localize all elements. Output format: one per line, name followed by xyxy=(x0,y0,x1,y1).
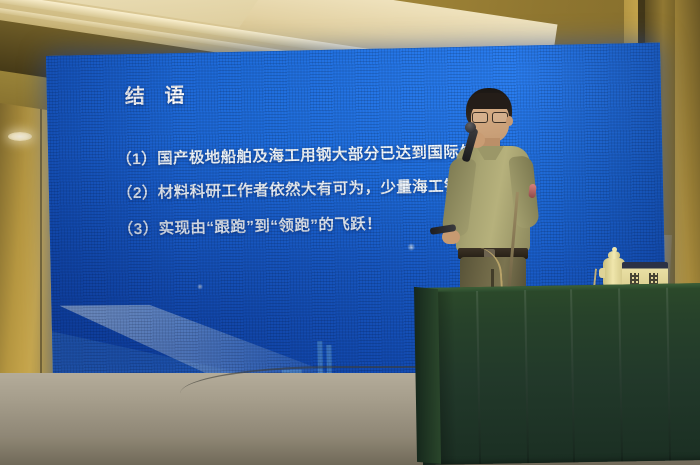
sparkle-2 xyxy=(407,243,415,251)
sparkle-1 xyxy=(197,284,203,290)
table-left-corner xyxy=(414,287,441,464)
speaker-ear xyxy=(506,116,513,126)
speaker-hair-front xyxy=(468,93,510,109)
slide-title: 结 语 xyxy=(125,79,192,109)
slide-bullet-3: （3）实现由“跟跑”到“领跑”的飞跃！ xyxy=(118,212,383,240)
glasses-icon xyxy=(472,112,508,121)
table-shadow-fold xyxy=(438,291,457,464)
table-fold xyxy=(570,289,575,462)
table-fold xyxy=(476,291,481,464)
presentation-photo-scene: 结 语 （1）国产极地船舶及海工用钢大部分已达到国际先进水 （2）材料科研工作者… xyxy=(0,0,700,465)
teapot-spout xyxy=(599,268,605,278)
draped-table xyxy=(420,283,700,465)
table-fold xyxy=(666,288,671,461)
teapot-knob xyxy=(612,247,617,252)
table-fold xyxy=(524,290,529,463)
downlight-icon-3 xyxy=(8,132,32,141)
table-fold xyxy=(618,289,623,462)
teapot-lid xyxy=(608,251,620,259)
